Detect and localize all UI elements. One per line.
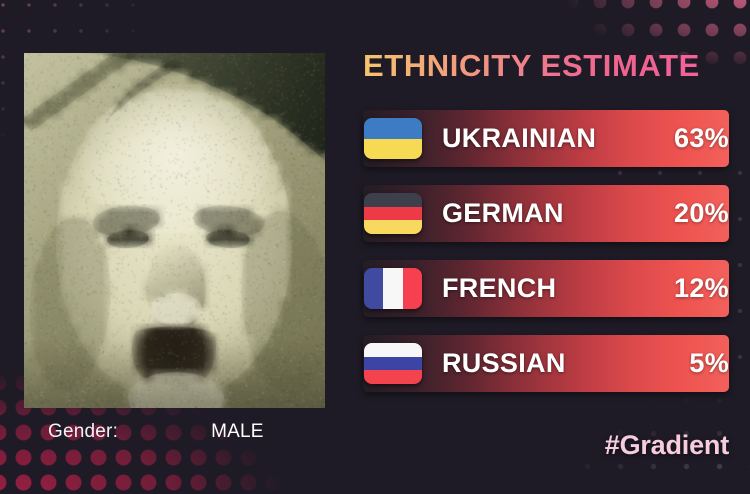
ethnicity-percent: 20%	[674, 185, 729, 242]
page-title: ETHNICITY ESTIMATE	[363, 48, 700, 84]
list-item[interactable]: UKRAINIAN 63%	[363, 110, 750, 167]
gender-label: Gender:	[48, 421, 118, 443]
list-item[interactable]: GERMAN 20%	[363, 185, 750, 242]
ethnicity-name: FRENCH	[442, 260, 556, 317]
ethnicity-percent: 12%	[674, 260, 729, 317]
ethnicity-percent: 5%	[689, 335, 729, 392]
app-watermark: #Gradient	[605, 430, 729, 461]
list-item[interactable]: FRENCH 12%	[363, 260, 750, 317]
ethnicity-name: GERMAN	[442, 185, 564, 242]
russia-flag-icon	[364, 343, 422, 384]
list-item[interactable]: RUSSIAN 5%	[363, 335, 750, 392]
ethnicity-name: RUSSIAN	[442, 335, 566, 392]
ethnicity-name: UKRAINIAN	[442, 110, 596, 167]
ethnicity-list: UKRAINIAN 63% GERMAN 20%	[363, 110, 750, 410]
gender-value: MALE	[211, 421, 264, 443]
gender-row: Gender: MALE	[24, 415, 325, 449]
ethnicity-percent: 63%	[674, 110, 729, 167]
ethnicity-panel: ETHNICITY ESTIMATE UKRAINIAN 63%	[363, 0, 750, 494]
germany-flag-icon	[364, 193, 422, 234]
france-flag-icon	[364, 268, 422, 309]
subject-photo-canvas	[24, 53, 325, 408]
subject-photo	[24, 53, 325, 408]
ukraine-flag-icon	[364, 118, 422, 159]
ethnicity-estimate-card: Gender: MALE ETHNICITY ESTIMATE UKRAINIA…	[0, 0, 750, 494]
